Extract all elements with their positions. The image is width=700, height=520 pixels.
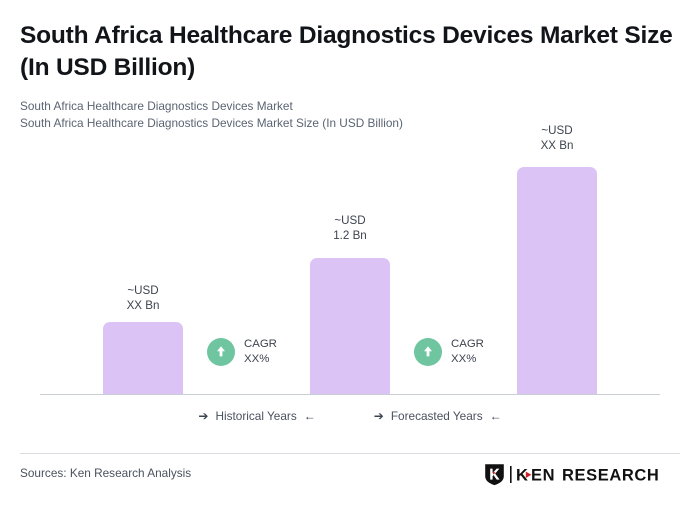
footer-divider: [20, 453, 680, 454]
bar-forecast[interactable]: [517, 167, 597, 394]
cagr-label: CAGR XX%: [451, 337, 484, 366]
ken-research-shield-icon: [484, 463, 505, 491]
arrow-right-icon: ➔: [198, 410, 208, 422]
cagr-label-line-2: XX%: [451, 352, 484, 367]
up-arrow-icon: [414, 338, 442, 366]
bar-historical[interactable]: [103, 322, 183, 394]
bar-value-label-line-2: XX Bn: [517, 139, 597, 154]
arrow-left-icon: ←: [304, 410, 316, 422]
bar-value-label-line-1: ~USD: [127, 284, 158, 297]
arrow-left-icon: ←: [490, 410, 502, 422]
cagr-annotation: CAGR XX%: [207, 337, 277, 366]
legend-label-historical-years: Historical Years: [215, 409, 296, 423]
legend-item-forecasted-years: ➔ Forecasted Years ←: [374, 409, 502, 423]
bar-value-label: ~USD XX Bn: [517, 124, 597, 154]
cagr-label-line-2: XX%: [244, 352, 277, 367]
svg-text:RESEARCH: RESEARCH: [562, 466, 659, 484]
period-legend: ➔ Historical Years ← ➔ Forecasted Years …: [40, 409, 660, 423]
bar-value-label: ~USD 1.2 Bn: [310, 214, 390, 244]
x-axis-line: [40, 394, 660, 395]
cagr-label-line-1: CAGR: [244, 338, 277, 350]
cagr-label: CAGR XX%: [244, 337, 277, 366]
bar-value-label-line-2: XX Bn: [103, 299, 183, 314]
legend-label-forecasted-years: Forecasted Years: [391, 409, 483, 423]
bar-value-label: ~USD XX Bn: [103, 284, 183, 314]
bar-value-label-line-1: ~USD: [334, 214, 365, 227]
bar-current[interactable]: [310, 258, 390, 394]
ken-research-logo: K EN RESEARCH: [484, 463, 678, 491]
bar-value-label-line-1: ~USD: [541, 124, 572, 137]
sources-text: Sources: Ken Research Analysis: [20, 466, 191, 480]
bar-chart-plot: ~USD XX Bn ~USD 1.2 Bn ~USD XX Bn CAGR X…: [0, 0, 700, 520]
cagr-annotation: CAGR XX%: [414, 337, 484, 366]
cagr-label-line-1: CAGR: [451, 338, 484, 350]
up-arrow-icon: [207, 338, 235, 366]
legend-item-historical-years: ➔ Historical Years ←: [198, 409, 315, 423]
svg-text:EN: EN: [531, 466, 555, 484]
chart-page: South Africa Healthcare Diagnostics Devi…: [0, 0, 700, 520]
ken-research-wordmark: K EN RESEARCH: [510, 465, 678, 490]
arrow-right-icon: ➔: [374, 410, 384, 422]
bar-value-label-line-2: 1.2 Bn: [310, 229, 390, 244]
